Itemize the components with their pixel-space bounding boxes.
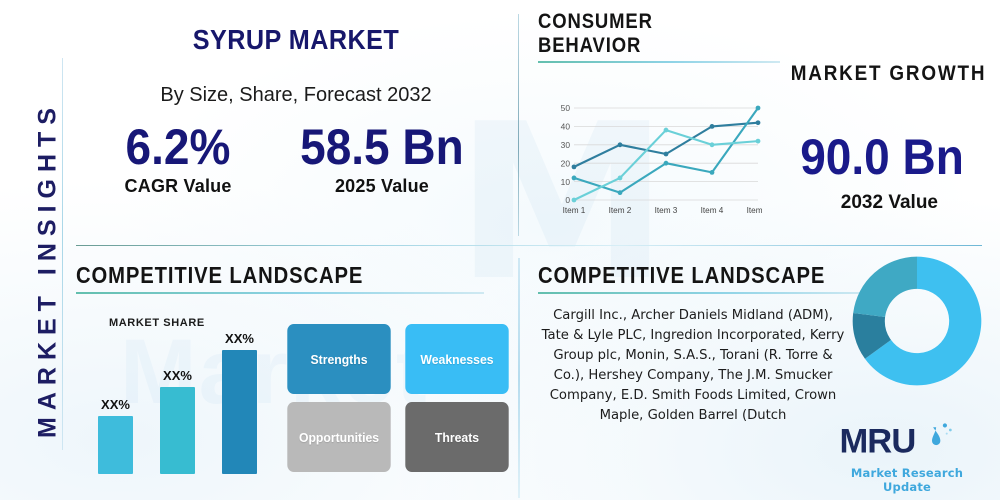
consumer-behavior-underline — [538, 61, 780, 63]
market-growth-value: 90.0 Bn — [800, 128, 964, 186]
infographic-root: M Market MARKET INSIGHTS SYRUP MARKET By… — [0, 0, 1000, 500]
svg-text:0: 0 — [565, 195, 570, 205]
swot-box-threats[interactable]: Threats — [405, 402, 508, 472]
consumer-behavior-line-chart: 01020304050 Item 1Item 2Item 3Item 4Item… — [548, 102, 762, 224]
horizontal-divider — [76, 245, 982, 246]
page-title: SYRUP MARKET — [98, 24, 494, 56]
vertical-divider-top — [518, 14, 519, 236]
bar-rect — [98, 416, 133, 474]
kpi-cagr-value: 6.2% — [126, 121, 231, 174]
kpi-2025-value: 58.5 Bn — [300, 121, 464, 174]
bar-rect — [160, 387, 195, 474]
market-share-bar-chart: XX%XX%XX% — [98, 334, 283, 474]
page-subtitle: By Size, Share, Forecast 2032 — [76, 84, 516, 107]
bar-item: XX% — [222, 331, 257, 474]
svg-text:MRU: MRU — [840, 423, 916, 460]
bar-rect — [222, 350, 257, 474]
competitive-left-underline — [76, 292, 484, 294]
kpi-2025: 58.5 Bn 2025 Value — [293, 121, 471, 197]
bar-value-label: XX% — [98, 397, 133, 412]
consumer-behavior-panel: CONSUMER BEHAVIOR MARKET GROWTH 90.0 Bn … — [538, 10, 990, 242]
swot-grid: StrengthsWeaknessesOpportunitiesThreats — [284, 324, 512, 472]
market-growth-heading: MARKET GROWTH — [790, 62, 986, 86]
competitive-right-heading: COMPETITIVE LANDSCAPE — [538, 262, 825, 289]
competitive-landscape-left-panel: COMPETITIVE LANDSCAPE MARKET SHARE XX%XX… — [76, 262, 516, 490]
svg-text:30: 30 — [561, 140, 571, 150]
kpi-2025-label: 2025 Value — [293, 176, 471, 197]
svg-text:Item 1: Item 1 — [563, 206, 586, 215]
swot-box-strengths[interactable]: Strengths — [287, 324, 390, 394]
bar-item: XX% — [160, 368, 195, 474]
kpi-row: 6.2% CAGR Value 58.5 Bn 2025 Value — [76, 121, 516, 197]
svg-text:Item 4: Item 4 — [701, 206, 724, 215]
vertical-divider-bottom — [518, 258, 520, 498]
bar-value-label: XX% — [160, 368, 195, 383]
mru-logo-tagline: Market Research Update — [834, 466, 980, 494]
swot-box-opportunities[interactable]: Opportunities — [287, 402, 390, 472]
swot-box-weaknesses[interactable]: Weaknesses — [405, 324, 508, 394]
svg-text:50: 50 — [561, 103, 571, 113]
bar-item: XX% — [98, 397, 133, 474]
svg-text:Item 5: Item 5 — [747, 206, 762, 215]
market-share-donut-chart — [850, 254, 984, 388]
svg-text:Item 3: Item 3 — [655, 206, 678, 215]
kpi-cagr: 6.2% CAGR Value — [121, 121, 235, 197]
company-list: Cargill Inc., Archer Daniels Midland (AD… — [538, 306, 848, 426]
kpi-cagr-label: CAGR Value — [121, 176, 235, 197]
market-share-label: MARKET SHARE — [109, 317, 205, 329]
competitive-landscape-right-panel: COMPETITIVE LANDSCAPE Cargill Inc., Arch… — [538, 262, 990, 494]
rail-divider — [62, 58, 63, 450]
svg-text:Item 2: Item 2 — [609, 206, 632, 215]
svg-text:20: 20 — [561, 158, 571, 168]
market-insights-rail-label: MARKET INSIGHTS — [34, 60, 63, 480]
consumer-behavior-heading: CONSUMER BEHAVIOR — [538, 10, 751, 58]
mru-logo-mark: MRU — [834, 420, 979, 460]
competitive-right-underline — [538, 292, 868, 294]
market-growth-label: 2032 Value — [841, 192, 938, 214]
svg-text:40: 40 — [561, 122, 571, 132]
svg-text:10: 10 — [561, 177, 571, 187]
mru-logo: MRU Market Research Update — [834, 420, 980, 494]
competitive-left-heading: COMPETITIVE LANDSCAPE — [76, 262, 363, 289]
header-panel: SYRUP MARKET By Size, Share, Forecast 20… — [76, 10, 516, 240]
bar-value-label: XX% — [222, 331, 257, 346]
